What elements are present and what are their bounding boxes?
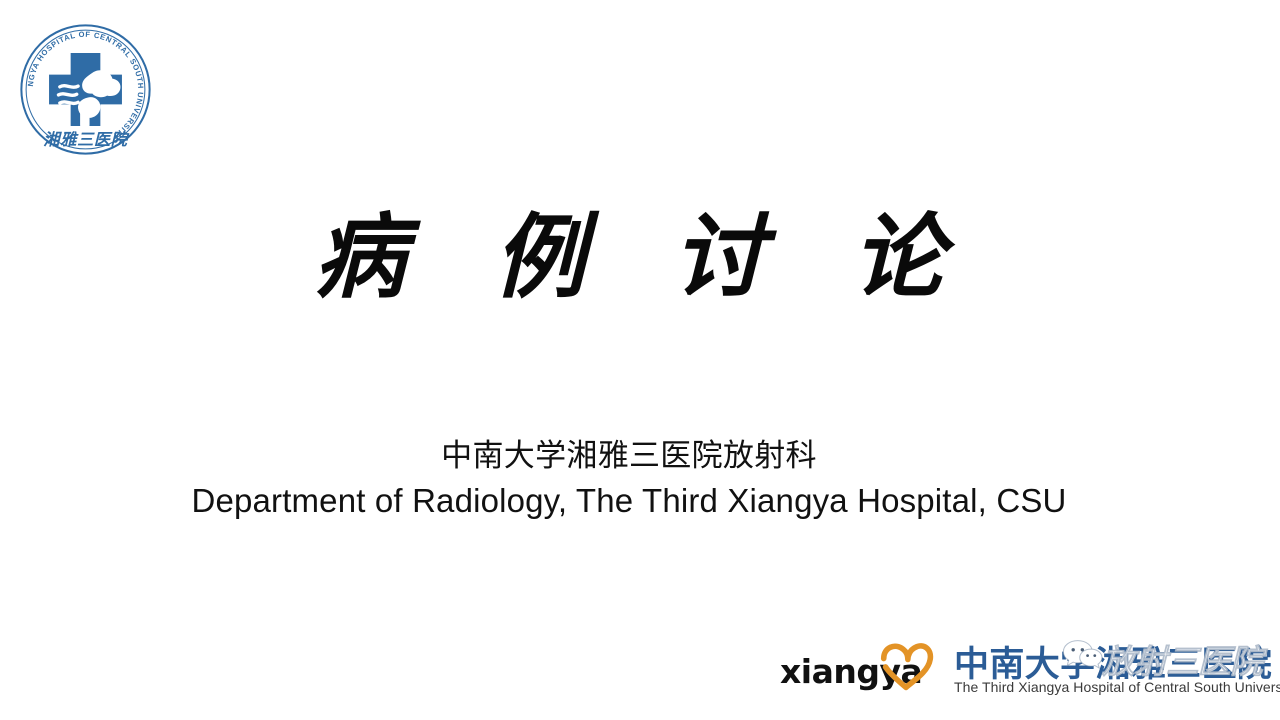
hospital-emblem-logo: THE THIRD XIANGYA HOSPITAL OF CENTRAL SO… bbox=[18, 22, 153, 157]
presentation-slide: THE THIRD XIANGYA HOSPITAL OF CENTRAL SO… bbox=[0, 0, 1280, 720]
csu-hospital-logo: 中南大学湘雅三医院 The Third Xiangya Hospital of … bbox=[954, 636, 1274, 700]
footer-logo-strip: xiangya 中南大学湘雅三医院 The Third Xiangya Hosp… bbox=[780, 632, 1274, 704]
xiangya-wordmark-logo: xiangya bbox=[780, 638, 932, 698]
orange-heart-icon bbox=[878, 640, 934, 692]
subtitle-english: Department of Radiology, The Third Xiang… bbox=[0, 478, 1258, 524]
csu-hospital-name-english: The Third Xiangya Hospital of Central So… bbox=[954, 679, 1280, 695]
subtitle-chinese: 中南大学湘雅三医院放射科 bbox=[0, 434, 1258, 478]
slide-subtitle-block: 中南大学湘雅三医院放射科 Department of Radiology, Th… bbox=[0, 434, 1258, 524]
emblem-calligraphy-text: 湘雅三医院 bbox=[43, 130, 129, 149]
slide-title: 病 例 讨 论 bbox=[0, 208, 1258, 307]
